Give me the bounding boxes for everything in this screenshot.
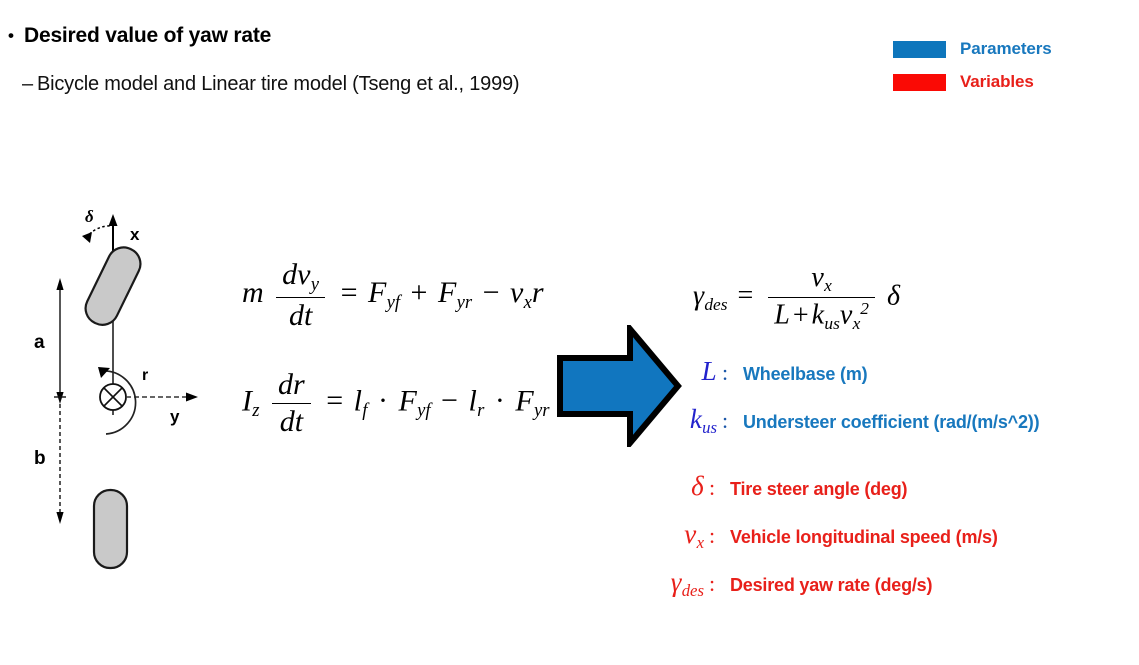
eq-lateral-fraction: dvy dt [276, 258, 325, 333]
definition-row-understeer-coefficient: kus : Understeer coefficient (rad/(m/s^2… [655, 406, 1139, 454]
bicycle-model-svg: x δ y r a [18, 200, 218, 590]
definition-symbol-kus-base: k [690, 404, 702, 434]
eq-yaw-dot-2: · [492, 384, 508, 417]
definition-text-desired-yaw-rate: Desired yaw rate (deg/s) [720, 575, 1139, 596]
diagram-label-b: b [34, 448, 46, 469]
equation-yaw-dynamics: Iz dr dt = lf · Fyf − lr · Fyr [242, 368, 549, 439]
eq-gamma-numerator: vx [768, 262, 875, 298]
definition-text-longitudinal-speed: Vehicle longitudinal speed (m/s) [720, 527, 1139, 548]
definition-colon-delta: : [704, 475, 720, 501]
eq-lateral-v-sub: y [311, 274, 319, 295]
definition-row-desired-yaw-rate: γdes : Desired yaw rate (deg/s) [642, 569, 1139, 617]
bicycle-model-diagram: x δ y r a [18, 200, 218, 590]
eq-gamma-equals: = [734, 280, 756, 311]
definition-row-wheelbase: L : Wheelbase (m) [655, 358, 1139, 406]
eq-lateral-minus: − [480, 276, 503, 309]
legend-label-variables: Variables [960, 72, 1034, 92]
eq-yaw-lr: l [468, 384, 476, 417]
eq-gamma-delta: δ [887, 280, 900, 311]
eq-yaw-lr-sub: r [477, 400, 484, 421]
eq-gamma-den-L: L [774, 300, 790, 331]
eq-yaw-fraction: dr dt [272, 368, 311, 439]
diagram-label-x: x [130, 225, 140, 244]
eq-gamma-den-v: v [840, 300, 852, 331]
definition-colon-vx: : [704, 523, 720, 549]
legend: Parameters Variables [893, 36, 1093, 102]
definition-symbol-gamma-base: γ [671, 567, 682, 597]
eq-yaw-Fyf-sub: yf [417, 400, 430, 421]
eq-yaw-lf-sub: f [362, 400, 367, 421]
eq-yaw-inertia-sub: z [252, 400, 259, 421]
heading-level-2-text: Bicycle model and Linear tire model (Tse… [37, 73, 519, 95]
eq-lateral-equals: = [338, 276, 361, 309]
eq-gamma-den-plus: + [790, 300, 812, 331]
legend-swatch-variables-icon [893, 74, 946, 91]
diagram-label-y: y [170, 407, 180, 426]
eq-gamma-lhs: γ [693, 280, 704, 311]
eq-yaw-Fyr: F [515, 384, 533, 417]
eq-lateral-numerator: dvy [276, 258, 325, 298]
eq-yaw-numerator: dr [272, 368, 311, 404]
eq-lateral-plus: + [408, 276, 431, 309]
eq-yaw-lf: l [354, 384, 362, 417]
definition-colon-gamma: : [704, 571, 720, 597]
eq-gamma-num-v-sub: x [824, 276, 832, 295]
bullet-marker-icon: • [8, 26, 24, 46]
legend-item-parameters: Parameters [893, 36, 1093, 62]
eq-lateral-r: r [532, 276, 544, 309]
variable-definitions-list: δ : Tire steer angle (deg) vx : Vehicle … [642, 473, 1139, 617]
eq-gamma-den-k-sub: us [824, 314, 839, 333]
definition-symbol-vx-base: v [684, 519, 696, 549]
rear-tire-icon [94, 490, 127, 568]
legend-item-variables: Variables [893, 69, 1093, 95]
eq-yaw-minus: − [438, 384, 461, 417]
eq-gamma-num-v: v [811, 262, 823, 293]
eq-gamma-den-v-sup: 2 [860, 299, 869, 318]
heading-level-2: –Bicycle model and Linear tire model (Ts… [22, 73, 519, 96]
heading-level-1-text: Desired value of yaw rate [24, 24, 271, 47]
eq-yaw-dot-1: · [375, 384, 391, 417]
eq-yaw-equals: = [323, 384, 346, 417]
eq-yaw-Fyf: F [398, 384, 416, 417]
eq-lateral-vx-sub: x [524, 292, 532, 313]
definition-row-tire-steer-angle: δ : Tire steer angle (deg) [642, 473, 1139, 521]
heading-level-1: •Desired value of yaw rate [8, 24, 271, 48]
definition-row-longitudinal-speed: vx : Vehicle longitudinal speed (m/s) [642, 521, 1139, 569]
eq-yaw-denominator: dt [272, 404, 311, 439]
eq-gamma-den-k: k [812, 300, 824, 331]
eq-yaw-inertia: I [242, 384, 252, 417]
definition-colon-wheelbase: : [717, 360, 733, 386]
eq-lateral-vx: v [510, 276, 523, 309]
eq-lateral-Fyf: F [368, 276, 386, 309]
slide-canvas: •Desired value of yaw rate –Bicycle mode… [0, 0, 1139, 665]
definition-text-tire-steer-angle: Tire steer angle (deg) [720, 479, 1139, 500]
eq-yaw-Fyr-sub: yr [534, 400, 550, 421]
equation-desired-yaw-rate: γdes = vx L+kusvx2 δ [693, 262, 900, 334]
eq-lateral-Fyr-sub: yr [457, 292, 473, 313]
definition-symbol-vx: vx [642, 521, 704, 552]
eq-gamma-denominator: L+kusvx2 [768, 298, 875, 334]
definition-symbol-vx-sub: x [697, 533, 704, 552]
eq-lateral-mass: m [242, 276, 264, 309]
definition-text-wheelbase: Wheelbase (m) [733, 364, 1139, 385]
definition-symbol-delta: δ [642, 473, 704, 504]
definition-symbol-L-base: L [702, 356, 717, 386]
definition-text-understeer-coefficient: Understeer coefficient (rad/(m/s^2)) [733, 412, 1139, 433]
diagram-label-delta: δ [85, 207, 94, 226]
definition-symbol-gamma-des: γdes [642, 569, 704, 600]
parameter-definitions-list: L : Wheelbase (m) kus : Understeer coeff… [655, 358, 1139, 454]
eq-lateral-v: v [297, 258, 310, 291]
eq-gamma-fraction: vx L+kusvx2 [768, 262, 875, 334]
definition-symbol-kus-sub: us [702, 418, 717, 437]
diagram-label-r: r [142, 367, 148, 384]
definition-symbol-gamma-sub: des [682, 581, 704, 600]
eq-lateral-Fyr: F [438, 276, 456, 309]
eq-lateral-denominator: dt [276, 298, 325, 333]
definition-symbol-delta-base: δ [691, 471, 704, 501]
equation-lateral-dynamics: m dvy dt = Fyf + Fyr − vxr [242, 258, 544, 333]
legend-swatch-parameters-icon [893, 41, 946, 58]
definition-symbol-L: L [655, 358, 717, 389]
diagram-label-a: a [34, 332, 45, 353]
dash-marker-icon: – [22, 73, 37, 96]
definition-colon-understeer: : [717, 408, 733, 434]
eq-lateral-Fyf-sub: yf [387, 292, 400, 313]
eq-lateral-d: d [282, 258, 297, 291]
legend-label-parameters: Parameters [960, 39, 1052, 59]
definition-symbol-kus: kus [655, 406, 717, 437]
eq-gamma-lhs-sub: des [704, 295, 727, 314]
